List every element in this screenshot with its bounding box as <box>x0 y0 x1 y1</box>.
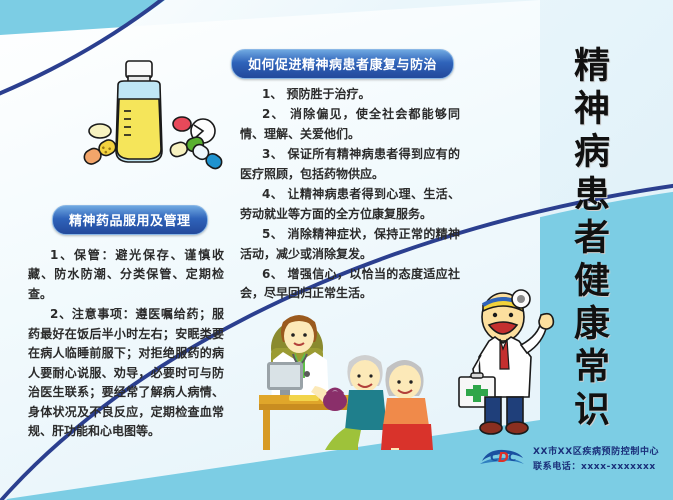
paragraph: 3、 保证所有精神病患者得到应有的医疗照顾，包括药物供应。 <box>240 145 460 184</box>
medication-text-block: 1、保管：避光保存、谨慎收藏、防水防潮、分类保管、定期检查。 2、注意事项：遵医… <box>28 246 224 442</box>
rehabilitation-text-block: 1、 预防胜于治疗。 2、 消除偏见，使全社会都能够同情、理解、关爱他们。 3、… <box>240 85 460 305</box>
poster-title: 精神病患者健康常识 <box>568 46 607 433</box>
svg-text:C: C <box>508 451 516 464</box>
cdc-logo-icon: C D C <box>478 445 526 471</box>
banner-medication-management: 精神药品服用及管理 <box>52 205 208 235</box>
footer-text: XX市XX区疾病预防控制中心 联系电话：xxxx-xxxxxxx <box>533 444 659 472</box>
standing-doctor-illustration <box>455 285 560 440</box>
paragraph: 2、注意事项：遵医嘱给药；服药最好在饭后半小时左右；安眠类要在病人临睡前服下；对… <box>28 305 224 441</box>
paragraph: 5、 消除精神症状，保持正常的精神活动，减少或消除复发。 <box>240 225 460 264</box>
banner-rehabilitation: 如何促进精神病患者康复与防治 <box>231 49 454 79</box>
paragraph: 2、 消除偏见，使全社会都能够同情、理解、关爱他们。 <box>240 105 460 144</box>
paragraph: 1、 预防胜于治疗。 <box>240 85 460 104</box>
footer-organization: XX市XX区疾病预防控制中心 <box>533 444 659 457</box>
paragraph: 6、 增强信心，以恰当的态度适应社会，尽早回归正常生活。 <box>240 265 460 304</box>
doctor-consultation-illustration <box>253 300 443 450</box>
footer: C D C XX市XX区疾病预防控制中心 联系电话：xxxx-xxxxxxx <box>478 444 659 472</box>
footer-contact: 联系电话：xxxx-xxxxxxx <box>533 459 659 472</box>
paragraph: 1、保管：避光保存、谨慎收藏、防水防潮、分类保管、定期检查。 <box>28 246 224 304</box>
paragraph: 4、 让精神病患者得到心理、生活、劳动就业等方面的全方位康复服务。 <box>240 185 460 224</box>
medicine-bottle-illustration <box>78 55 228 195</box>
poster-canvas: 精神病患者健康常识 <box>0 0 673 500</box>
svg-text:C: C <box>490 451 498 464</box>
